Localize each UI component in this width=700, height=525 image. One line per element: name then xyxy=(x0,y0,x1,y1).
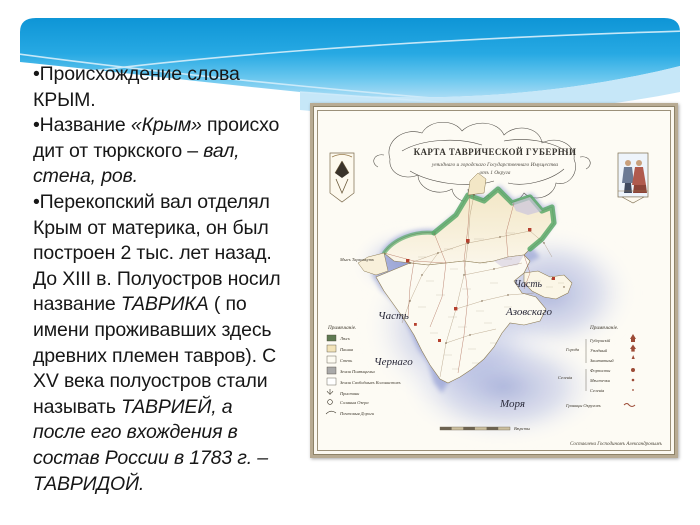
legend-right-g2-2: Селенія xyxy=(590,388,604,393)
slide-text-body: •Происхождение слова КРЫМ. •Название «Кр… xyxy=(33,62,301,497)
map-title-sub-1: уеѣзднаго и городскаго Государственнаго … xyxy=(431,161,559,168)
legend-right-group1-label: Города xyxy=(565,347,580,352)
legend-left-label-4: Земли Свободныхъ Колонистовъ xyxy=(340,380,401,385)
legend-left-heading: Примѣчаніе. xyxy=(327,325,356,331)
bullet-1-text: •Происхождение слова xyxy=(33,63,240,85)
map-title-main: КАРТА ТАВРИЧЕСКОЙ ГУБЕРНІИ xyxy=(414,147,577,157)
legend-left-entry-1: Пашня xyxy=(327,345,353,352)
map-outer-frame: КАРТА ТАВРИЧЕСКОЙ ГУБЕРНІИ уеѣзднаго и г… xyxy=(310,103,678,458)
bullet-paragraph-3: •Перекопский вал отделял Крым от материк… xyxy=(33,190,301,497)
sea-label-black-sea: Чернаго xyxy=(374,356,413,368)
legend-right-group2-label: Селенія xyxy=(558,375,572,380)
legend-left-label-7: Почтовыя Дороги xyxy=(339,411,375,416)
legend-left-label-0: Лѣсъ xyxy=(339,336,351,341)
bullet-1-text-b: КРЫМ. xyxy=(33,89,96,111)
italic-krym: «Крым» xyxy=(131,114,202,136)
costumed-figures-emblem xyxy=(618,153,648,203)
legend-right-g1-0: Губернскій xyxy=(589,338,611,343)
bullet-3-line-6: имени проживавших здесь xyxy=(33,319,271,341)
map-signature: Составлена Господиномъ Александровымъ xyxy=(570,442,662,447)
legend-right-g2-1: Мѣстечки xyxy=(589,378,611,383)
map-canvas: КАРТА ТАВРИЧЕСКОЙ ГУБЕРНІИ уеѣзднаго и г… xyxy=(317,110,671,451)
sea-label-azov-part: Часть xyxy=(514,279,543,290)
scale-bar-caption: Вѣрсты xyxy=(514,426,530,431)
bullet-2-line-1: •Название «Крым» происхо xyxy=(33,114,279,136)
sea-label-azov: Азовскаго xyxy=(505,306,553,318)
bullet-3-line-12: ТАВРИДОЙ. xyxy=(33,473,144,495)
presentation-slide: •Происхождение слова КРЫМ. •Название «Кр… xyxy=(0,0,700,525)
coat-of-arms-emblem xyxy=(330,153,354,202)
legend-left-entry-3: Земли Помѣщичьи xyxy=(327,367,376,374)
bullet-3-line-2: Крым от материка, он был xyxy=(33,217,269,239)
bullet-3-line-9: называть ТАВРИЕЙ, а xyxy=(33,396,232,418)
map-title-sub-2: отъ 1 Округа xyxy=(479,170,510,176)
map-picture[interactable]: КАРТА ТАВРИЧЕСКОЙ ГУБЕРНІИ уеѣзднаго и г… xyxy=(310,103,678,458)
sea-label-sea: Моря xyxy=(499,398,525,410)
legend-left-label-3: Земли Помѣщичьи xyxy=(340,369,376,374)
italic-tavrika: ТАВРИКА xyxy=(121,293,209,315)
bullet-paragraph-1: •Происхождение слова КРЫМ. xyxy=(33,62,301,113)
bullet-3-line-4: До XIII в. Полуостров носил xyxy=(33,268,280,290)
map-graphic: КАРТА ТАВРИЧЕСКОЙ ГУБЕРНІИ уеѣзднаго и г… xyxy=(318,111,671,451)
bullet-3-line-1: •Перекопский вал отделял xyxy=(33,191,270,213)
bullet-paragraph-2: •Название «Крым» происхо дит от тюркског… xyxy=(33,113,301,190)
legend-left-label-2: Степь xyxy=(340,358,352,363)
bullet-3-line-3: построен 2 тыс. лет назад. xyxy=(33,242,272,264)
bullet-2-line-3: стена, ров. xyxy=(33,165,138,187)
legend-left-label-6: Соляныя Озера xyxy=(340,400,369,405)
bullet-3-line-8: XV века полуостров стали xyxy=(33,370,267,392)
legend-left-entry-2: Степь xyxy=(327,356,352,363)
legend-left-label-5: Пристани xyxy=(339,391,360,396)
italic-tavriey: ТАВРИЕЙ, а xyxy=(121,396,232,418)
legend-right-g1-1: Уѣздный xyxy=(590,348,608,353)
bullet-3-line-5: название ТАВРИКА ( по xyxy=(33,293,247,315)
legend-right-heading: Примѣчаніе. xyxy=(589,325,618,331)
sea-label-black-sea-part: Часть xyxy=(378,310,409,322)
bullet-2-line-2: дит от тюркского – вал, xyxy=(33,140,239,162)
bullet-3-line-7: древних племен тавров). С xyxy=(33,345,276,367)
legend-left-label-1: Пашня xyxy=(339,347,353,352)
legend-right-group3-label: Границы Округовъ xyxy=(565,403,601,408)
legend-right-g1-2: Заштатный xyxy=(590,358,614,363)
bullet-3-line-10: после его вхождения в xyxy=(33,421,238,443)
bullet-3-line-11: состав России в 1783 г. – xyxy=(33,447,268,469)
italic-val: вал, xyxy=(203,140,239,162)
legend-right-g2-0: Форпосты xyxy=(590,368,610,373)
coast-label-tarkhankut: Мысъ Тарханкутъ xyxy=(339,257,375,262)
